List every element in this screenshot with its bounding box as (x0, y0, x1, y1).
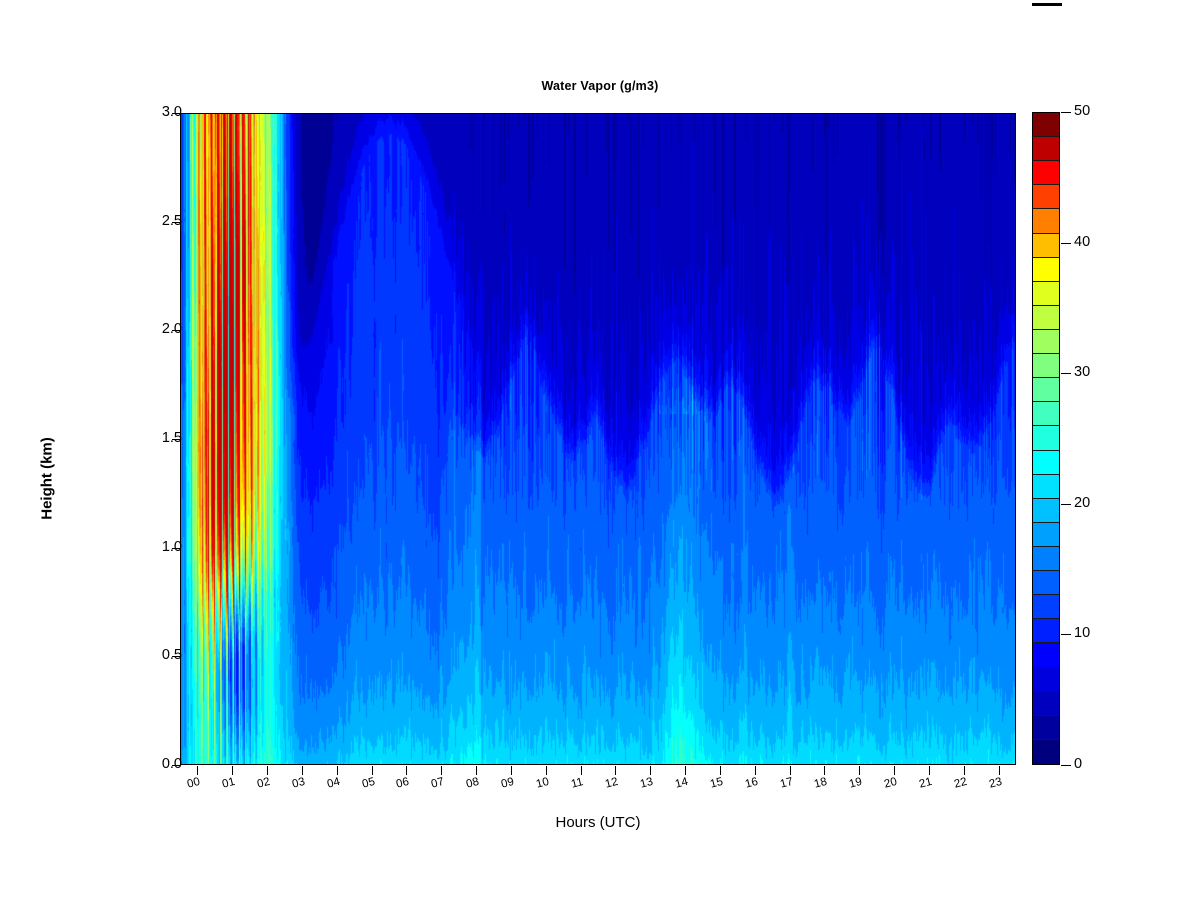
x-tick-label: 17 (779, 776, 794, 791)
x-tick (581, 766, 582, 775)
colorbar-band (1033, 692, 1059, 716)
colorbar (1032, 112, 1060, 765)
colorbar-band (1033, 475, 1059, 499)
colorbar-band (1033, 547, 1059, 571)
figure-root: Water Vapor (g/m3) 0.00.51.01.52.02.53.0… (0, 0, 1200, 900)
x-tick-label: 09 (500, 776, 515, 791)
x-axis-label: Hours (UTC) (180, 814, 1016, 831)
x-tick (999, 766, 1000, 775)
colorbar-tick-label: 30 (1074, 364, 1090, 380)
x-tick-label: 00 (186, 776, 201, 791)
colorbar-tick-label: 10 (1074, 625, 1090, 641)
colorbar-band (1033, 426, 1059, 450)
x-tick (824, 766, 825, 775)
colorbar-band (1033, 209, 1059, 233)
x-tick (790, 766, 791, 775)
y-axis-label: Height (km) (39, 399, 56, 559)
x-tick-label: 01 (221, 776, 236, 791)
page-title: Water Vapor (g/m3) (0, 79, 1200, 93)
x-tick (511, 766, 512, 775)
colorbar-band (1033, 378, 1059, 402)
x-tick (929, 766, 930, 775)
colorbar-tick-label: 0 (1074, 756, 1082, 772)
x-tick (441, 766, 442, 775)
x-tick (720, 766, 721, 775)
x-tick-label: 19 (848, 776, 863, 791)
x-tick (302, 766, 303, 775)
x-tick-label: 16 (744, 776, 759, 791)
colorbar-band (1033, 137, 1059, 161)
colorbar-band (1033, 716, 1059, 740)
x-tick (964, 766, 965, 775)
x-tick-label: 22 (953, 776, 968, 791)
plot-area (180, 113, 1016, 765)
colorbar-tick (1061, 243, 1071, 244)
x-tick-label: 03 (291, 776, 306, 791)
colorbar-band (1033, 499, 1059, 523)
x-tick (650, 766, 651, 775)
colorbar-tick (1061, 373, 1071, 374)
colorbar-band (1033, 523, 1059, 547)
x-tick (337, 766, 338, 775)
x-tick-label: 18 (813, 776, 828, 791)
x-tick (232, 766, 233, 775)
x-tick-label: 10 (535, 776, 550, 791)
colorbar-band (1033, 595, 1059, 619)
colorbar-band (1033, 354, 1059, 378)
colorbar-band (1033, 451, 1059, 475)
x-tick-label: 13 (639, 776, 654, 791)
colorbar-band (1033, 402, 1059, 426)
x-tick (685, 766, 686, 775)
colorbar-tick-label: 20 (1074, 495, 1090, 511)
x-tick (372, 766, 373, 775)
x-tick-label: 04 (326, 776, 341, 791)
y-tick-label: 0.0 (102, 756, 182, 772)
x-tick-label: 11 (570, 776, 585, 791)
colorbar-band (1033, 185, 1059, 209)
y-tick-label: 2.5 (102, 213, 182, 229)
x-tick-label: 23 (988, 776, 1003, 791)
x-tick-label: 12 (604, 776, 619, 791)
x-tick (859, 766, 860, 775)
colorbar-band (1033, 258, 1059, 282)
y-tick-label: 1.5 (102, 430, 182, 446)
colorbar-band (1033, 161, 1059, 185)
colorbar-band (1033, 282, 1059, 306)
colorbar-band (1033, 571, 1059, 595)
y-tick-label: 0.5 (102, 647, 182, 663)
x-tick (755, 766, 756, 775)
colorbar-band (1033, 619, 1059, 643)
y-tick-label: 2.0 (102, 321, 182, 337)
x-tick (197, 766, 198, 775)
colorbar-band (1033, 330, 1059, 354)
colorbar-band (1033, 643, 1059, 667)
colorbar-tick (1061, 112, 1071, 113)
colorbar-tick (1061, 765, 1071, 766)
colorbar-tick-label: 50 (1074, 103, 1090, 119)
x-tick-label: 21 (918, 776, 933, 791)
x-tick (546, 766, 547, 775)
colorbar-tick-label: 40 (1074, 234, 1090, 250)
colorbar-band (1033, 668, 1059, 692)
x-tick-label: 20 (883, 776, 898, 791)
colorbar-tick (1061, 634, 1071, 635)
y-tick-label: 3.0 (102, 104, 182, 120)
x-tick-label: 02 (256, 776, 271, 791)
colorbar-band (1033, 740, 1059, 764)
colorbar-tick (1061, 504, 1071, 505)
x-tick (894, 766, 895, 775)
x-tick-label: 06 (395, 776, 410, 791)
colorbar-band (1033, 113, 1059, 137)
x-tick-label: 08 (465, 776, 480, 791)
y-tick-label: 1.0 (102, 539, 182, 555)
x-tick (406, 766, 407, 775)
x-tick (476, 766, 477, 775)
x-tick-label: 07 (430, 776, 445, 791)
x-tick-label: 14 (674, 776, 689, 791)
x-tick (267, 766, 268, 775)
colorbar-band (1033, 234, 1059, 258)
x-tick (615, 766, 616, 775)
x-tick-label: 05 (361, 776, 376, 791)
top-edge-artifact (1032, 3, 1062, 6)
x-tick-label: 15 (709, 776, 724, 791)
heatmap-canvas (181, 114, 1016, 765)
colorbar-band (1033, 306, 1059, 330)
